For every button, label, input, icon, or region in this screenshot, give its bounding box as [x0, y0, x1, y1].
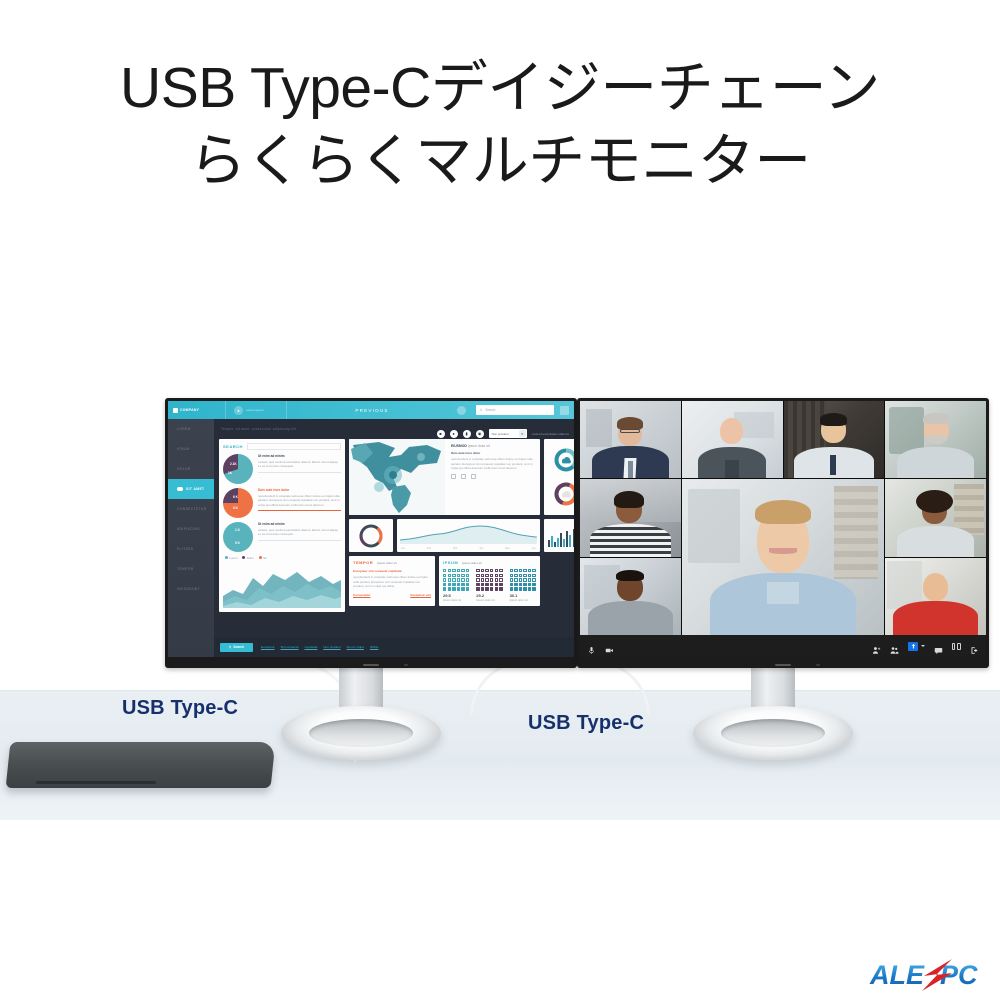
- dot: [485, 583, 488, 586]
- pie-1-text: Ut enim ad minim veniam, quis nostrud ex…: [258, 454, 341, 473]
- dot: [443, 587, 446, 590]
- participant-grid: [580, 401, 986, 635]
- map-card-title: EIUSMOD Ipsum dolor sit: [451, 444, 535, 448]
- dot: [514, 574, 517, 577]
- dot: [443, 574, 446, 577]
- pie-3-major: 1 K: [235, 528, 240, 532]
- ipsum-card: IPSUM Ipsum dolor sit 29.5 Ipsum dolor s…: [439, 556, 540, 606]
- dot: [443, 578, 446, 581]
- topbar-divider: [225, 401, 226, 419]
- monitor-stand-base-right: [693, 706, 853, 760]
- dot: [466, 583, 469, 586]
- footer-search-button[interactable]: ⚲ Search: [220, 643, 253, 652]
- sidebar-item-lorem[interactable]: LOREM: [168, 419, 214, 439]
- tile-4-hair: [923, 413, 950, 424]
- dot: [532, 583, 535, 586]
- footer-link-5[interactable]: Sunt in culpa: [347, 645, 364, 649]
- dot-row: [476, 587, 502, 590]
- dot-matrix-1: 29.5 Ipsum dolor sit: [443, 569, 469, 602]
- line-chart-labels: Jan Feb Mar Apr May Jun: [401, 547, 536, 550]
- page-title: USB Type-Cデイジーチェーン らくらくマルチモニター: [0, 52, 1000, 198]
- monitor-right-power-led: [775, 664, 791, 666]
- pie-1-heading[interactable]: Ut enim ad minim: [258, 454, 341, 458]
- participant-tile-9[interactable]: [885, 558, 986, 635]
- clock-icon[interactable]: ●: [450, 430, 458, 438]
- tempor-card-header: TEMPOR Ipsum dolor sit: [353, 560, 431, 565]
- dot: [461, 587, 464, 590]
- dot: [485, 578, 488, 581]
- dot-matrix-2: 25.2 Ipsum dolor sit: [476, 569, 502, 602]
- tile-1-tie: [628, 461, 633, 478]
- dot: [519, 574, 522, 577]
- dot: [457, 587, 460, 590]
- tempor-links: Consectetur Excepteur sint: [353, 593, 431, 597]
- legend-item-dolor: Dolor: [242, 556, 253, 560]
- monitor-stand-base-left: [281, 706, 441, 760]
- pie-2-heading[interactable]: Duis aute irure dolor: [258, 488, 341, 492]
- tempor-link-right[interactable]: Excepteur sint: [410, 593, 431, 597]
- divider: [258, 472, 341, 473]
- participant-tile-3[interactable]: [784, 401, 885, 478]
- dot: [452, 569, 455, 572]
- map-card-icons: [451, 474, 535, 479]
- dot: [510, 574, 513, 577]
- search-card-field[interactable]: [247, 443, 341, 450]
- dot: [523, 574, 526, 577]
- sidebar-item-label: SIT AMET: [186, 487, 204, 491]
- dashboard-title: PREVIOUS: [287, 408, 457, 413]
- headline-line-1: USB Type-Cデイジーチェーン: [120, 56, 880, 120]
- sidebar-item-tempor[interactable]: TEMPOR: [168, 559, 214, 579]
- dot: [495, 569, 498, 572]
- dot: [476, 587, 479, 590]
- dot: [481, 587, 484, 590]
- dot: [476, 574, 479, 577]
- share-screen-icon[interactable]: [908, 642, 918, 651]
- gear-icon[interactable]: ◉: [476, 430, 484, 438]
- sidebar-item-label: IPSUM: [177, 447, 189, 451]
- donut-card: [349, 519, 393, 552]
- dot: [519, 587, 522, 590]
- dot: [519, 569, 522, 572]
- layout-right-pane: [957, 643, 961, 650]
- tile-7-curly-hair: [916, 490, 952, 513]
- dot: [448, 587, 451, 590]
- pie-3-heading[interactable]: Ut enim ad minim: [258, 522, 341, 526]
- dot: [457, 578, 460, 581]
- layout-left-pane: [952, 643, 955, 650]
- dot: [448, 583, 451, 586]
- tempor-body: reprehenderit in voluptate velit esse ci…: [353, 575, 431, 589]
- divider: [258, 540, 341, 541]
- dot: [499, 569, 502, 572]
- dot: [448, 574, 451, 577]
- ipsum-card-header: IPSUM Ipsum dolor sit: [443, 560, 536, 565]
- dot-row: [510, 578, 536, 581]
- legend-item-lorem: Lorem: [225, 556, 237, 560]
- pie-row-3: 1 K 5 K Ut enim ad minim veniam, quis no…: [223, 522, 341, 552]
- footer-link-6[interactable]: Officia: [370, 645, 378, 649]
- tile-3-hair: [820, 413, 847, 425]
- tile-3-tie: [830, 455, 836, 475]
- sidebar-item-ipsum[interactable]: IPSUM: [168, 439, 214, 459]
- dot: [461, 578, 464, 581]
- participant-tile-8[interactable]: [580, 558, 681, 635]
- dashboard-main: Tempor: sit amet, consectetur adipiscing…: [214, 419, 574, 657]
- dot: [490, 587, 493, 590]
- row-donut-line: Jan Feb Mar Apr May Jun: [349, 519, 540, 552]
- dot: [481, 578, 484, 581]
- tile-5-hair: [614, 491, 644, 508]
- pie-2-major: 6 K: [233, 495, 238, 499]
- participant-tile-1[interactable]: [580, 401, 681, 478]
- dot-row: [510, 583, 536, 586]
- dot-row: [476, 583, 502, 586]
- brand-mark-icon: [173, 408, 178, 413]
- dot: [495, 583, 498, 586]
- dot: [510, 569, 513, 572]
- dot: [481, 574, 484, 577]
- search-card: SEARCH 2.1K 1K: [219, 439, 345, 612]
- bar-chart-labels: 1234567: [547, 549, 574, 551]
- dot: [519, 578, 522, 581]
- footer-link-1[interactable]: Excepteur: [261, 645, 275, 649]
- dot: [528, 574, 531, 577]
- tempor-card-subtitle: Ipsum dolor sit: [377, 561, 397, 565]
- dashboard-topbar: COMPANY ● Lorem ipsum PREVIOUS ⚲ Search: [168, 401, 574, 419]
- toolbar-note: nostrud exercitation ullamco: [532, 432, 569, 436]
- monitor-right: [577, 398, 989, 668]
- line-chart: [400, 522, 537, 544]
- hamburger-menu-icon[interactable]: [560, 406, 569, 415]
- dot: [461, 583, 464, 586]
- dot: [466, 587, 469, 590]
- sidebar-item-elitsed[interactable]: ELITSED: [168, 539, 214, 559]
- dot: [443, 569, 446, 572]
- footer-link-3[interactable]: Cupidatat: [305, 645, 318, 649]
- usb-c-label-left: USB Type-C: [122, 697, 238, 720]
- dot-matrix-charts: 29.5 Ipsum dolor sit 25.2 Ipsum dolor si…: [443, 569, 536, 602]
- dot: [499, 583, 502, 586]
- dot: [519, 583, 522, 586]
- pie-1-major: 2.1K: [230, 462, 237, 466]
- tile-8-sweater: [588, 601, 673, 635]
- dot: [490, 578, 493, 581]
- dot: [452, 583, 455, 586]
- dot: [466, 578, 469, 581]
- donut-chart-cloud-2: [553, 481, 574, 507]
- mail-icon[interactable]: ▮: [463, 430, 471, 438]
- sidebar-item-incididunt[interactable]: INCIDIDUNT: [168, 579, 214, 599]
- participant-tile-6-active-speaker[interactable]: [682, 479, 885, 635]
- ipsum-metric-2-label: Ipsum dolor sit: [476, 598, 502, 602]
- ipsum-metric-3-label: Ipsum dolor sit: [510, 598, 536, 602]
- map-card-body: reprehenderit in voluptate velit esse ci…: [451, 457, 535, 471]
- pie-3-body: veniam, quis nostrud exercitation ullamc…: [258, 528, 341, 537]
- dot: [461, 569, 464, 572]
- laptop-device: [8, 742, 273, 788]
- pie-chart-3: 1 K 5 K: [223, 522, 253, 552]
- column-center: EIUSMOD Ipsum dolor sit Duis aute irure …: [349, 439, 540, 612]
- dashboard-app: COMPANY ● Lorem ipsum PREVIOUS ⚲ Search: [168, 401, 574, 657]
- tile-1-hair: [617, 417, 643, 429]
- chat-bubble-icon[interactable]: [934, 642, 943, 651]
- bar-chart-card: 1234567: [544, 519, 574, 552]
- tile-1-window: [586, 409, 612, 448]
- tile-6-smile: [769, 548, 797, 554]
- tile-7-top: [897, 526, 974, 557]
- brand-logo[interactable]: COMPANY: [173, 408, 225, 413]
- participant-tile-7[interactable]: [885, 479, 986, 556]
- dot: [490, 583, 493, 586]
- pie-row-2: 6 K 6 K Duis aute irure dolor reprehende…: [223, 488, 341, 518]
- toolbar-right-group: [970, 642, 979, 651]
- sidebar-item-adipiscing[interactable]: ADIPISCING: [168, 519, 214, 539]
- monitor-left-power-led: [363, 664, 379, 666]
- content-toolbar: ■ ● ▮ ◉ Non proident ▾ nostrud exercitat…: [437, 429, 569, 438]
- dot: [514, 578, 517, 581]
- row-tempor-ipsum: TEMPOR Ipsum dolor sit Excepteur sint oc…: [349, 556, 540, 606]
- participant-tile-2[interactable]: [682, 401, 783, 478]
- dot: [457, 574, 460, 577]
- dot: [485, 569, 488, 572]
- donut-chart: [358, 523, 384, 549]
- dot: [452, 578, 455, 581]
- monitor-right-bezel: [577, 398, 989, 668]
- dot: [457, 569, 460, 572]
- monitor-left: COMPANY ● Lorem ipsum PREVIOUS ⚲ Search: [165, 398, 577, 668]
- pie-2-body: reprehenderit in voluptate velit esse ci…: [258, 494, 341, 507]
- pie-3-text: Ut enim ad minim veniam, quis nostrud ex…: [258, 522, 341, 541]
- dot-row: [443, 583, 469, 586]
- dot: [457, 583, 460, 586]
- dot: [448, 569, 451, 572]
- dot: [499, 578, 502, 581]
- search-card-header: SEARCH: [223, 443, 341, 450]
- dot: [523, 583, 526, 586]
- dot: [528, 578, 531, 581]
- line-chart-card: Jan Feb Mar Apr May Jun: [397, 519, 540, 552]
- cloud-icon: [177, 487, 183, 491]
- brand-name: COMPANY: [180, 408, 199, 412]
- pie-1-body: veniam, quis nostrud exercitation ullamc…: [258, 460, 341, 469]
- column-left: SEARCH 2.1K 1K: [219, 439, 345, 612]
- dot: [481, 583, 484, 586]
- avatar: ●: [234, 406, 243, 415]
- pie-3-minor: 5 K: [235, 541, 240, 545]
- dot: [510, 587, 513, 590]
- chevron-up-icon[interactable]: [921, 645, 925, 647]
- leave-meeting-icon[interactable]: [970, 642, 979, 651]
- tile-4-torso: [897, 447, 974, 478]
- pin-icon[interactable]: [451, 474, 456, 479]
- dot: [514, 583, 517, 586]
- pie-chart-1: 2.1K 1K: [223, 454, 253, 484]
- usb-c-cable-monitor-to-monitor: [470, 660, 650, 716]
- dot-row: [510, 587, 536, 590]
- map-card: EIUSMOD Ipsum dolor sit Duis aute irure …: [349, 439, 540, 515]
- tile-9-head: [923, 573, 948, 601]
- dot-row: [476, 578, 502, 581]
- ipsum-card-title: IPSUM: [443, 560, 458, 565]
- dot: [485, 574, 488, 577]
- sidebar-item-label: INCIDIDUNT: [177, 587, 200, 591]
- tile-8-hair: [616, 570, 644, 581]
- dot: [532, 574, 535, 577]
- dot: [481, 569, 484, 572]
- monitor-left-bezel: COMPANY ● Lorem ipsum PREVIOUS ⚲ Search: [165, 398, 577, 668]
- dot-row: [476, 569, 502, 572]
- search-icon: ⚲: [480, 408, 482, 412]
- participant-tile-5[interactable]: [580, 479, 681, 556]
- dot: [523, 578, 526, 581]
- ipsum-metric-1-label: Ipsum dolor sit: [443, 598, 469, 602]
- calendar-icon[interactable]: [461, 474, 466, 479]
- ipsum-card-subtitle: Ipsum dolor sit: [462, 561, 482, 565]
- sidebar-item-label: LOREM: [177, 427, 191, 431]
- sidebar-item-label: TEMPOR: [177, 567, 194, 571]
- dot: [528, 569, 531, 572]
- dot-row: [443, 578, 469, 581]
- tile-2-head: [720, 418, 743, 444]
- monitor-right-brand-mark: [816, 664, 820, 666]
- dashboard-sidebar: LOREM IPSUM DOLOR SIT AMET CONSECTETUR A…: [168, 419, 214, 657]
- monitor-right-screen: [580, 401, 986, 657]
- dot: [476, 569, 479, 572]
- user-menu[interactable]: ● Lorem ipsum: [234, 406, 286, 415]
- headline-line-2: らくらくマルチモニター: [0, 125, 1000, 198]
- map-card-bold: Duis aute irure dolor: [451, 451, 535, 455]
- dot: [443, 583, 446, 586]
- dot: [523, 587, 526, 590]
- dot: [528, 583, 531, 586]
- tempor-link-left[interactable]: Consectetur: [353, 593, 371, 597]
- sidebar-item-consectetur[interactable]: CONSECTETUR: [168, 499, 214, 519]
- camera-icon[interactable]: ■: [437, 430, 445, 438]
- monitor-left-brand-mark: [404, 664, 408, 666]
- tempor-card: TEMPOR Ipsum dolor sit Excepteur sint oc…: [349, 556, 435, 606]
- participant-tile-4[interactable]: [885, 401, 986, 478]
- tempor-warning: Excepteur sint occaecat cupidatat: [353, 569, 431, 573]
- sidebar-item-label: ELITSED: [177, 547, 194, 551]
- search-input[interactable]: ⚲ Search: [476, 405, 554, 415]
- dot-row: [443, 569, 469, 572]
- add-participant-icon[interactable]: [872, 642, 881, 651]
- tile-6-collar: [767, 582, 799, 604]
- column-right: 1234567: [544, 439, 574, 612]
- tile-5-striped-top: [590, 524, 671, 556]
- filter-value: Non proident: [492, 432, 509, 436]
- dot: [514, 569, 517, 572]
- participants-icon[interactable]: [890, 642, 899, 651]
- divider: [258, 510, 341, 511]
- sidebar-item-label: ADIPISCING: [177, 527, 200, 531]
- dot: [466, 574, 469, 577]
- footer-link-4[interactable]: Non proident: [323, 645, 340, 649]
- sidebar-item-dolor[interactable]: DOLOR: [168, 459, 214, 479]
- dot: [485, 587, 488, 590]
- footer-search-label: Search: [233, 645, 244, 649]
- microphone-icon[interactable]: [587, 642, 596, 651]
- dashboard-grid: SEARCH 2.1K 1K: [219, 439, 569, 612]
- donut-stack-card: [544, 439, 574, 515]
- donut-chart-cloud-1: [553, 447, 574, 473]
- globe-icon[interactable]: [457, 406, 466, 415]
- dashboard-footer: ⚲ Search Excepteur Sint occaecat Cupidat…: [214, 637, 574, 657]
- pie-2-text: Duis aute irure dolor reprehenderit in v…: [258, 488, 341, 511]
- alexpc-logo: ALE PC: [868, 956, 994, 994]
- dot-row: [443, 587, 469, 590]
- tile-4-plant: [889, 407, 923, 453]
- dot-row: [510, 569, 536, 572]
- dot: [495, 587, 498, 590]
- dot: [532, 587, 535, 590]
- footer-links: Excepteur Sint occaecat Cupidatat Non pr…: [261, 645, 378, 649]
- video-call-toolbar: [580, 635, 986, 657]
- chart-legend: Lorem Dolor Sit: [225, 556, 341, 560]
- dot: [476, 583, 479, 586]
- dot-row: [476, 574, 502, 577]
- search-placeholder: Search: [485, 408, 495, 412]
- tile-1-glasses: [620, 429, 640, 433]
- sidebar-item-label: CONSECTETUR: [177, 507, 207, 511]
- dot: [528, 587, 531, 590]
- video-conference-app: [580, 401, 986, 657]
- sidebar-item-sit-amet[interactable]: SIT AMET: [168, 479, 214, 499]
- sidebar-item-label: DOLOR: [177, 467, 191, 471]
- dot: [490, 569, 493, 572]
- dot-row: [443, 574, 469, 577]
- dot: [466, 569, 469, 572]
- dot: [495, 574, 498, 577]
- dot: [523, 569, 526, 572]
- bar-chart: [548, 527, 574, 547]
- filter-select[interactable]: Non proident ▾: [489, 429, 527, 438]
- dot: [510, 583, 513, 586]
- tile-6-hair: [755, 500, 812, 525]
- dot: [532, 578, 535, 581]
- dot: [499, 587, 502, 590]
- pie-2-minor: 6 K: [233, 506, 238, 510]
- dot: [510, 578, 513, 581]
- dot: [461, 574, 464, 577]
- dot-matrix-3: 30.1 Ipsum dolor sit: [510, 569, 536, 602]
- pie-1-minor: 1K: [228, 471, 232, 475]
- video-camera-icon[interactable]: [605, 642, 614, 651]
- dot: [514, 587, 517, 590]
- tile-9-red-top: [893, 601, 978, 635]
- monitor-left-screen: COMPANY ● Lorem ipsum PREVIOUS ⚲ Search: [168, 401, 574, 657]
- laptop-front-edge: [36, 781, 156, 784]
- dot: [448, 578, 451, 581]
- dot-row: [510, 574, 536, 577]
- info-icon[interactable]: [471, 474, 476, 479]
- dot: [452, 587, 455, 590]
- usb-c-label-right: USB Type-C: [528, 712, 644, 735]
- tile-6-wall-art: [688, 489, 741, 564]
- dot: [495, 578, 498, 581]
- dot: [490, 574, 493, 577]
- dot: [499, 574, 502, 577]
- world-map-image: [349, 439, 445, 515]
- dot: [476, 578, 479, 581]
- map-card-text: EIUSMOD Ipsum dolor sit Duis aute irure …: [449, 439, 540, 515]
- pie-row-1: 2.1K 1K Ut enim ad minim veniam, quis no…: [223, 454, 341, 484]
- layout-view-icon[interactable]: [952, 642, 961, 651]
- footer-link-2[interactable]: Sint occaecat: [281, 645, 299, 649]
- dot: [452, 574, 455, 577]
- tempor-card-title: TEMPOR: [353, 560, 373, 565]
